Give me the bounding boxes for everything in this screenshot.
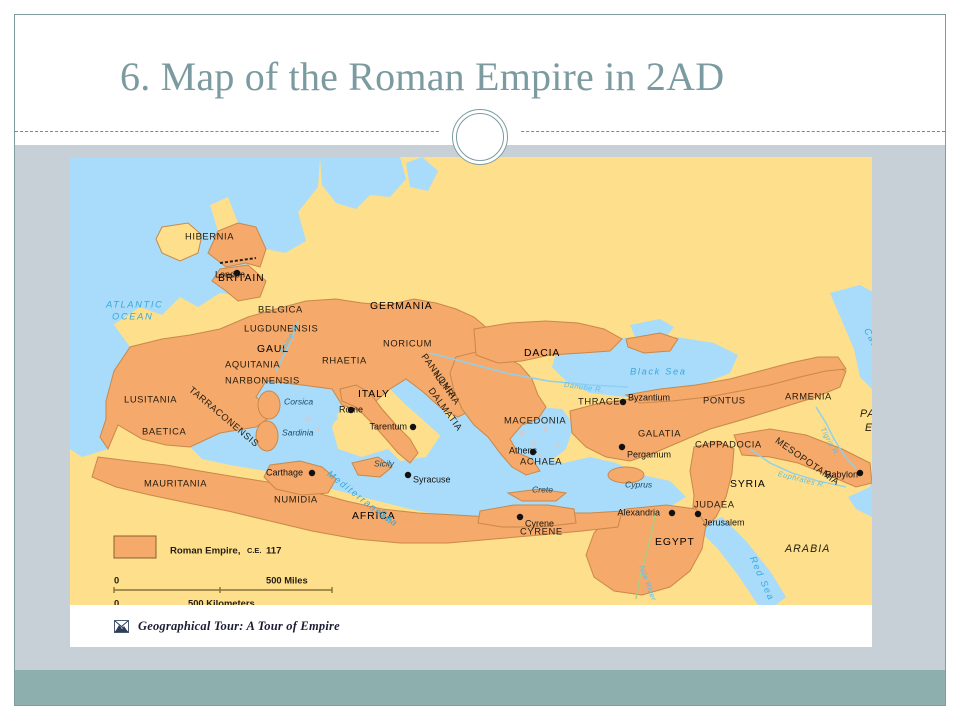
legend-swatch — [114, 536, 156, 558]
map-label-city-4: Carthage — [266, 467, 303, 477]
scale-km-label: 500 Kilometers — [188, 597, 255, 605]
map-city-dot-10 — [695, 511, 701, 517]
legend-year: 117 — [266, 546, 281, 557]
map-label-outside-0: PARTHIAN — [860, 408, 872, 420]
map-city-dot-7 — [619, 444, 625, 450]
map-city-dot-6 — [620, 399, 626, 405]
footer-bar — [15, 670, 945, 706]
map-city-dot-3 — [405, 472, 411, 478]
map-label-city-1: Rome — [339, 404, 363, 414]
map-label-island-4: Cyprus — [625, 479, 653, 489]
map-label-city-0: London — [215, 269, 245, 279]
map-label-province-17: PONTUS — [703, 394, 746, 405]
map-label-province-2: BELGICA — [258, 303, 303, 314]
legend-era: C.E. — [247, 546, 261, 555]
map-label-city-2: Tarentum — [369, 421, 407, 431]
map-label-island-3: Crete — [532, 484, 553, 494]
map-label-province-19: GALATIA — [638, 427, 681, 438]
map-label-province-26: NUMIDIA — [274, 493, 318, 504]
scale-miles-zero: 0 — [114, 574, 119, 585]
map-label-province-6: NORICUM — [383, 337, 432, 348]
map-label-city-10: Jerusalem — [703, 517, 745, 527]
map-canvas: HIBERNIABRITAINBELGICALUGDUNENSISGAULGER… — [70, 157, 872, 605]
map-label-city-9: Alexandria — [617, 507, 660, 517]
roman-empire-map-image: HIBERNIABRITAINBELGICALUGDUNENSISGAULGER… — [70, 157, 872, 605]
map-label-province-3: LUGDUNENSIS — [244, 322, 318, 333]
map-label-city-3: Syracuse — [413, 474, 451, 484]
circle-ornament-icon — [452, 109, 508, 165]
map-caption: Geographical Tour: A Tour of Empire — [70, 605, 872, 647]
map-city-dot-4 — [309, 470, 315, 476]
map-label-province-11: BAETICA — [142, 425, 186, 436]
map-city-dot-2 — [410, 424, 416, 430]
slide: 6. Map of the Roman Empire in 2AD — [0, 0, 960, 720]
legend-label: Roman Empire, — [170, 546, 241, 557]
map-caption-text: Geographical Tour: A Tour of Empire — [138, 619, 340, 634]
map-label-province-22: JUDAEA — [694, 498, 735, 509]
map-label-outside-2: ARABIA — [784, 543, 830, 555]
map-label-province-13: DACIA — [524, 348, 560, 359]
map-label-province-7: RHAETIA — [322, 354, 367, 365]
map-label-outside-1: EMPIRE — [865, 422, 872, 434]
ring-inner — [456, 113, 504, 161]
map-label-city-8: Cyrene — [525, 518, 554, 528]
map-label-province-10: LUSITANIA — [124, 393, 177, 404]
map-label-province-21: SYRIA — [730, 479, 766, 490]
map-label-province-23: EGYPT — [655, 537, 695, 548]
map-label-water-1: OCEAN — [112, 310, 153, 321]
map-city-dot-9 — [669, 510, 675, 516]
map-label-province-9: NARBONENSIS — [225, 374, 300, 385]
map-label-province-16: ACHAEA — [520, 455, 562, 466]
map-label-province-18: ARMENIA — [785, 390, 832, 401]
page-title: 6. Map of the Roman Empire in 2AD — [120, 53, 910, 100]
map-city-dot-8 — [517, 514, 523, 520]
scale-miles-label: 500 Miles — [266, 574, 308, 585]
map-label-province-27: MAURITANIA — [144, 477, 207, 488]
scale-km-zero: 0 — [114, 597, 119, 605]
map-card: HIBERNIABRITAINBELGICALUGDUNENSISGAULGER… — [70, 157, 872, 647]
map-label-island-0: Corsica — [284, 396, 313, 406]
map-label-province-5: GERMANIA — [370, 301, 433, 312]
map-label-island-1: Sardinia — [282, 427, 314, 437]
map-label-water-0: ATLANTIC — [105, 298, 163, 309]
map-label-island-2: Sicily — [374, 458, 395, 468]
broken-image-icon — [114, 620, 129, 633]
map-label-province-12: ITALY — [358, 389, 390, 400]
map-label-water-2: Black Sea — [630, 365, 687, 376]
map-label-city-11: Babylon — [825, 469, 858, 479]
map-label-city-6: Byzantium — [628, 392, 670, 402]
map-label-province-20: CAPPADOCIA — [695, 438, 762, 449]
map-label-province-8: AQUITANIA — [225, 358, 280, 369]
map-label-city-5: Athens — [509, 445, 538, 455]
map-label-city-7: Pergamum — [627, 449, 671, 459]
map-label-province-15: MACEDONIA — [504, 414, 566, 425]
map-label-province-0: HIBERNIA — [185, 230, 234, 241]
map-label-province-14: THRACE — [578, 395, 620, 406]
